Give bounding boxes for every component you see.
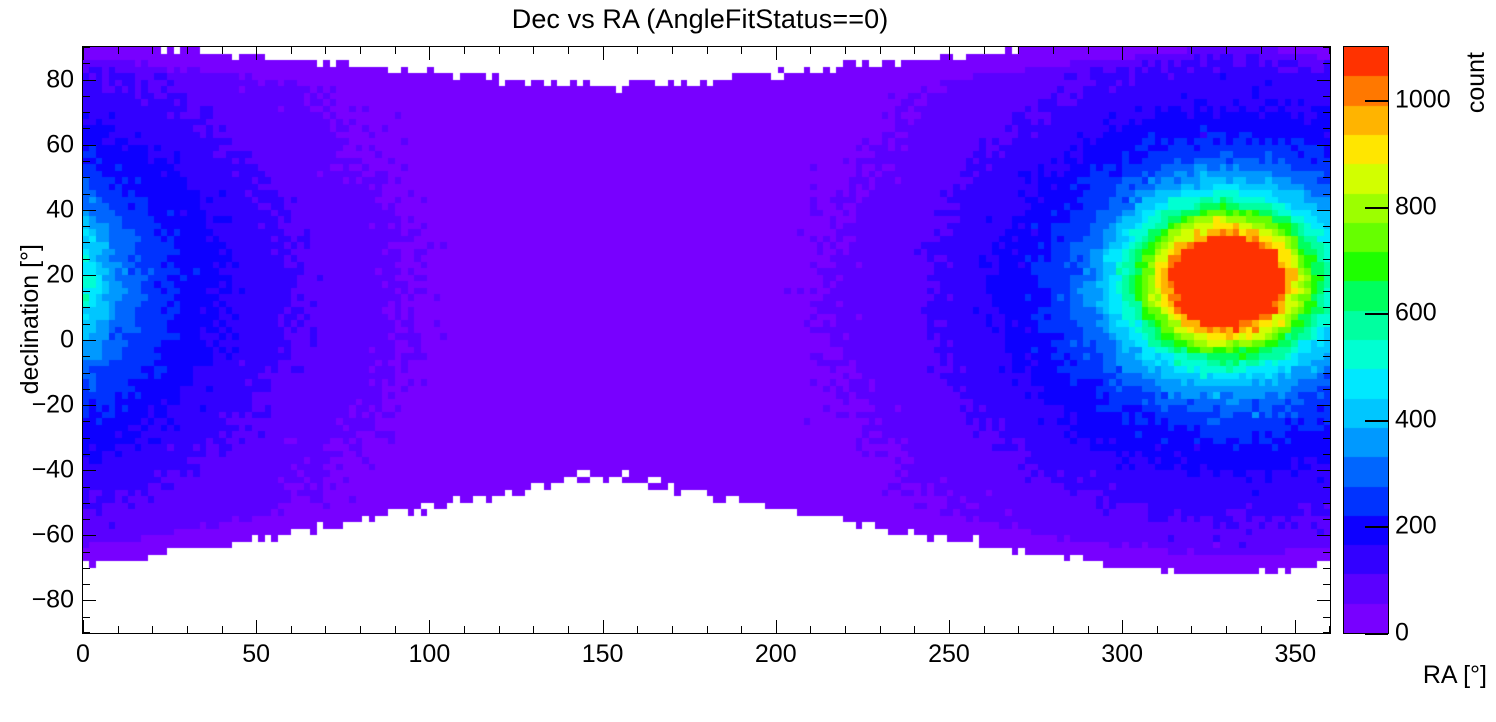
- y-tick-label: 60: [46, 130, 74, 159]
- color-scale-tick: [1365, 207, 1388, 209]
- y-tick-label: −40: [32, 456, 74, 485]
- histogram-frame[interactable]: [82, 46, 1331, 634]
- x-tick-label: 350: [1275, 640, 1317, 669]
- color-scale-gradient: [1344, 47, 1388, 633]
- x-tick-label: 250: [928, 640, 970, 669]
- color-scale-tick: [1365, 420, 1388, 422]
- y-axis-title-wrapper: declination [°]: [10, 200, 40, 201]
- x-tick-label: 200: [755, 640, 797, 669]
- x-tick-label: 50: [242, 640, 270, 669]
- x-axis-title: RA [°]: [1423, 661, 1487, 690]
- color-scale-title-wrapper: count: [1462, 52, 1463, 53]
- color-scale-tick-label: 1000: [1395, 86, 1451, 115]
- y-tick-label: 20: [46, 260, 74, 289]
- color-scale-tick-label: 400: [1395, 406, 1437, 435]
- color-scale-bar[interactable]: [1343, 46, 1389, 634]
- plot-canvas: Dec vs RA (AngleFitStatus==0) 0501001502…: [0, 0, 1496, 722]
- y-tick-label: 40: [46, 195, 74, 224]
- histogram-heatmap[interactable]: [83, 47, 1330, 633]
- plot-title: Dec vs RA (AngleFitStatus==0): [0, 4, 1400, 34]
- color-scale-tick: [1365, 633, 1388, 635]
- color-scale-tick: [1365, 100, 1388, 102]
- y-axis-title: declination [°]: [16, 244, 45, 394]
- x-tick-label: 100: [409, 640, 451, 669]
- x-tick-label: 300: [1101, 640, 1143, 669]
- y-tick-label: 0: [60, 326, 74, 355]
- color-scale-tick-label: 600: [1395, 299, 1437, 328]
- x-tick-label: 150: [582, 640, 624, 669]
- color-scale-tick-label: 0: [1395, 619, 1409, 648]
- color-scale-tick-label: 800: [1395, 193, 1437, 222]
- x-tick-label: 0: [76, 640, 90, 669]
- color-scale-tick: [1365, 313, 1388, 315]
- y-tick-label: 80: [46, 65, 74, 94]
- color-scale-tick: [1365, 526, 1388, 528]
- y-tick-label: −20: [32, 391, 74, 420]
- y-tick-label: −80: [32, 586, 74, 615]
- color-scale-tick-label: 200: [1395, 512, 1437, 541]
- y-tick-label: −60: [32, 521, 74, 550]
- color-scale-title: count: [1462, 52, 1491, 113]
